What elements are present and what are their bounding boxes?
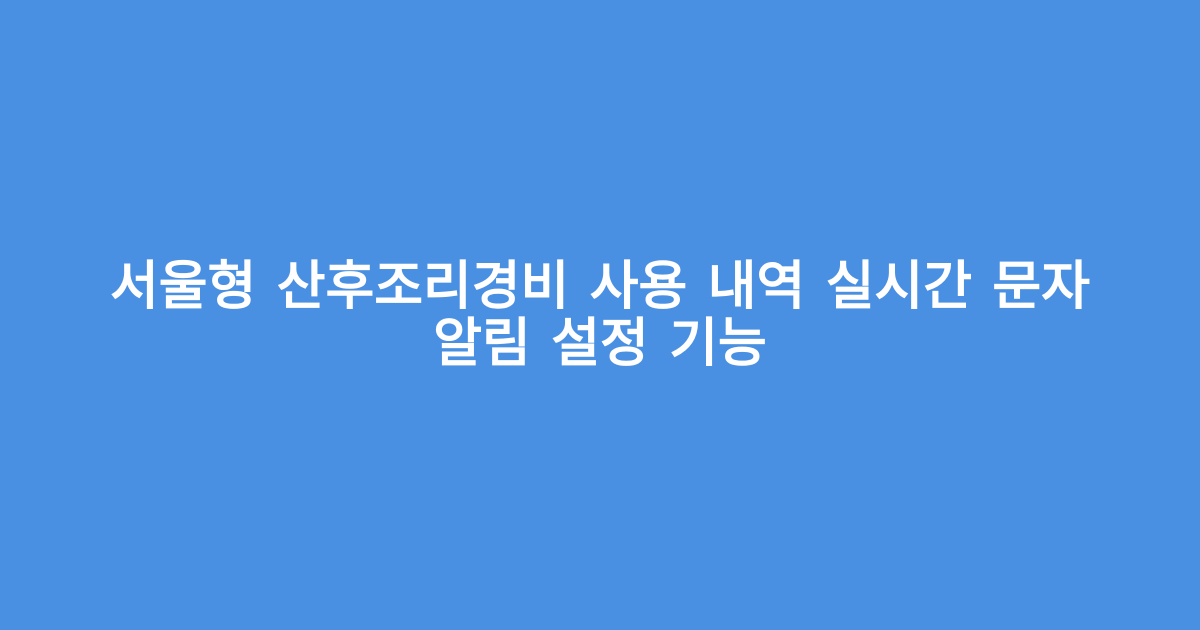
banner-content: 서울형 산후조리경비 사용 내역 실시간 문자 알림 설정 기능 xyxy=(70,258,1130,372)
banner-card: 서울형 산후조리경비 사용 내역 실시간 문자 알림 설정 기능 xyxy=(0,0,1200,630)
banner-title: 서울형 산후조리경비 사용 내역 실시간 문자 알림 설정 기능 xyxy=(70,258,1130,372)
